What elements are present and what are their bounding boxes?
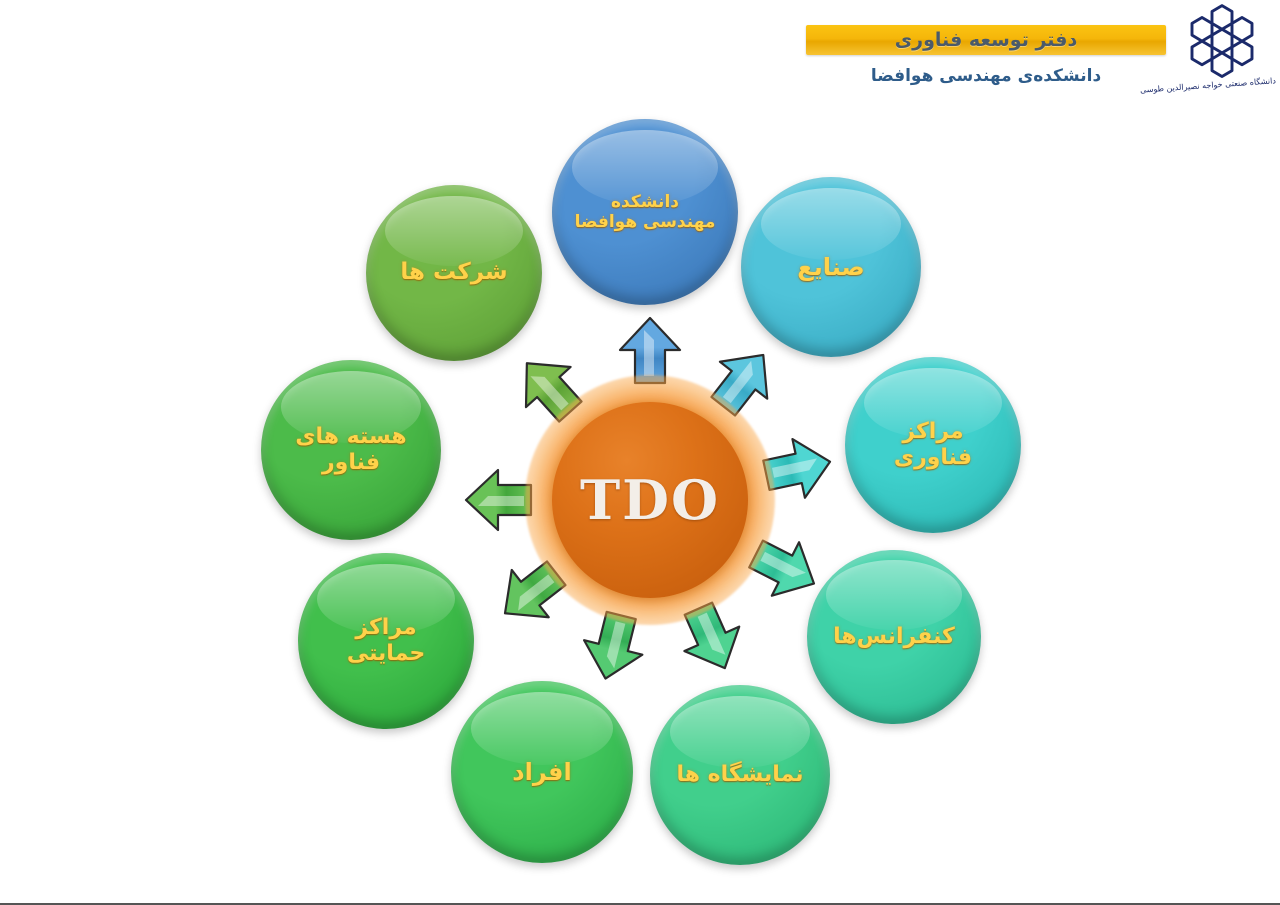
center-node-label: TDO (580, 468, 720, 532)
center-node-tdo[interactable]: TDO (552, 402, 748, 598)
node-label-tech-centers: مراکز فناوری (888, 419, 978, 472)
node-support-centers[interactable]: مراکز حمایتی (298, 553, 474, 729)
node-label-industries: صنایع (791, 253, 870, 282)
node-tech-cores[interactable]: هسته های فناور (261, 360, 441, 540)
node-label-tech-cores: هسته های فناور (289, 424, 412, 477)
node-label-companies: شرکت ها (394, 259, 513, 287)
node-exhibitions[interactable]: نمایشگاه ها (650, 685, 830, 865)
node-label-conferences: کنفرانس‌ها (827, 624, 961, 650)
arrow-to-tech-cores (466, 470, 531, 530)
node-companies[interactable]: شرکت ها (366, 185, 542, 361)
node-faculty[interactable]: دانشکده مهندسی هوافضا (552, 119, 738, 305)
node-label-people: افراد (506, 758, 577, 787)
node-people[interactable]: افراد (451, 681, 633, 863)
node-gloss (826, 560, 962, 630)
node-gloss (385, 196, 522, 266)
node-label-faculty: دانشکده مهندسی هوافضا (569, 192, 722, 233)
node-label-exhibitions: نمایشگاه ها (670, 762, 809, 788)
tdo-radial-diagram: TDO دانشکده مهندسی هوافضاصنایعمراکز فناو… (0, 0, 1280, 905)
node-tech-centers[interactable]: مراکز فناوری (845, 357, 1021, 533)
node-industries[interactable]: صنایع (741, 177, 921, 357)
node-gloss (471, 692, 613, 765)
arrow-to-faculty (620, 318, 680, 383)
node-label-support-centers: مراکز حمایتی (341, 615, 431, 668)
node-conferences[interactable]: کنفرانس‌ها (807, 550, 981, 724)
node-gloss (761, 188, 901, 260)
node-gloss (670, 696, 810, 768)
